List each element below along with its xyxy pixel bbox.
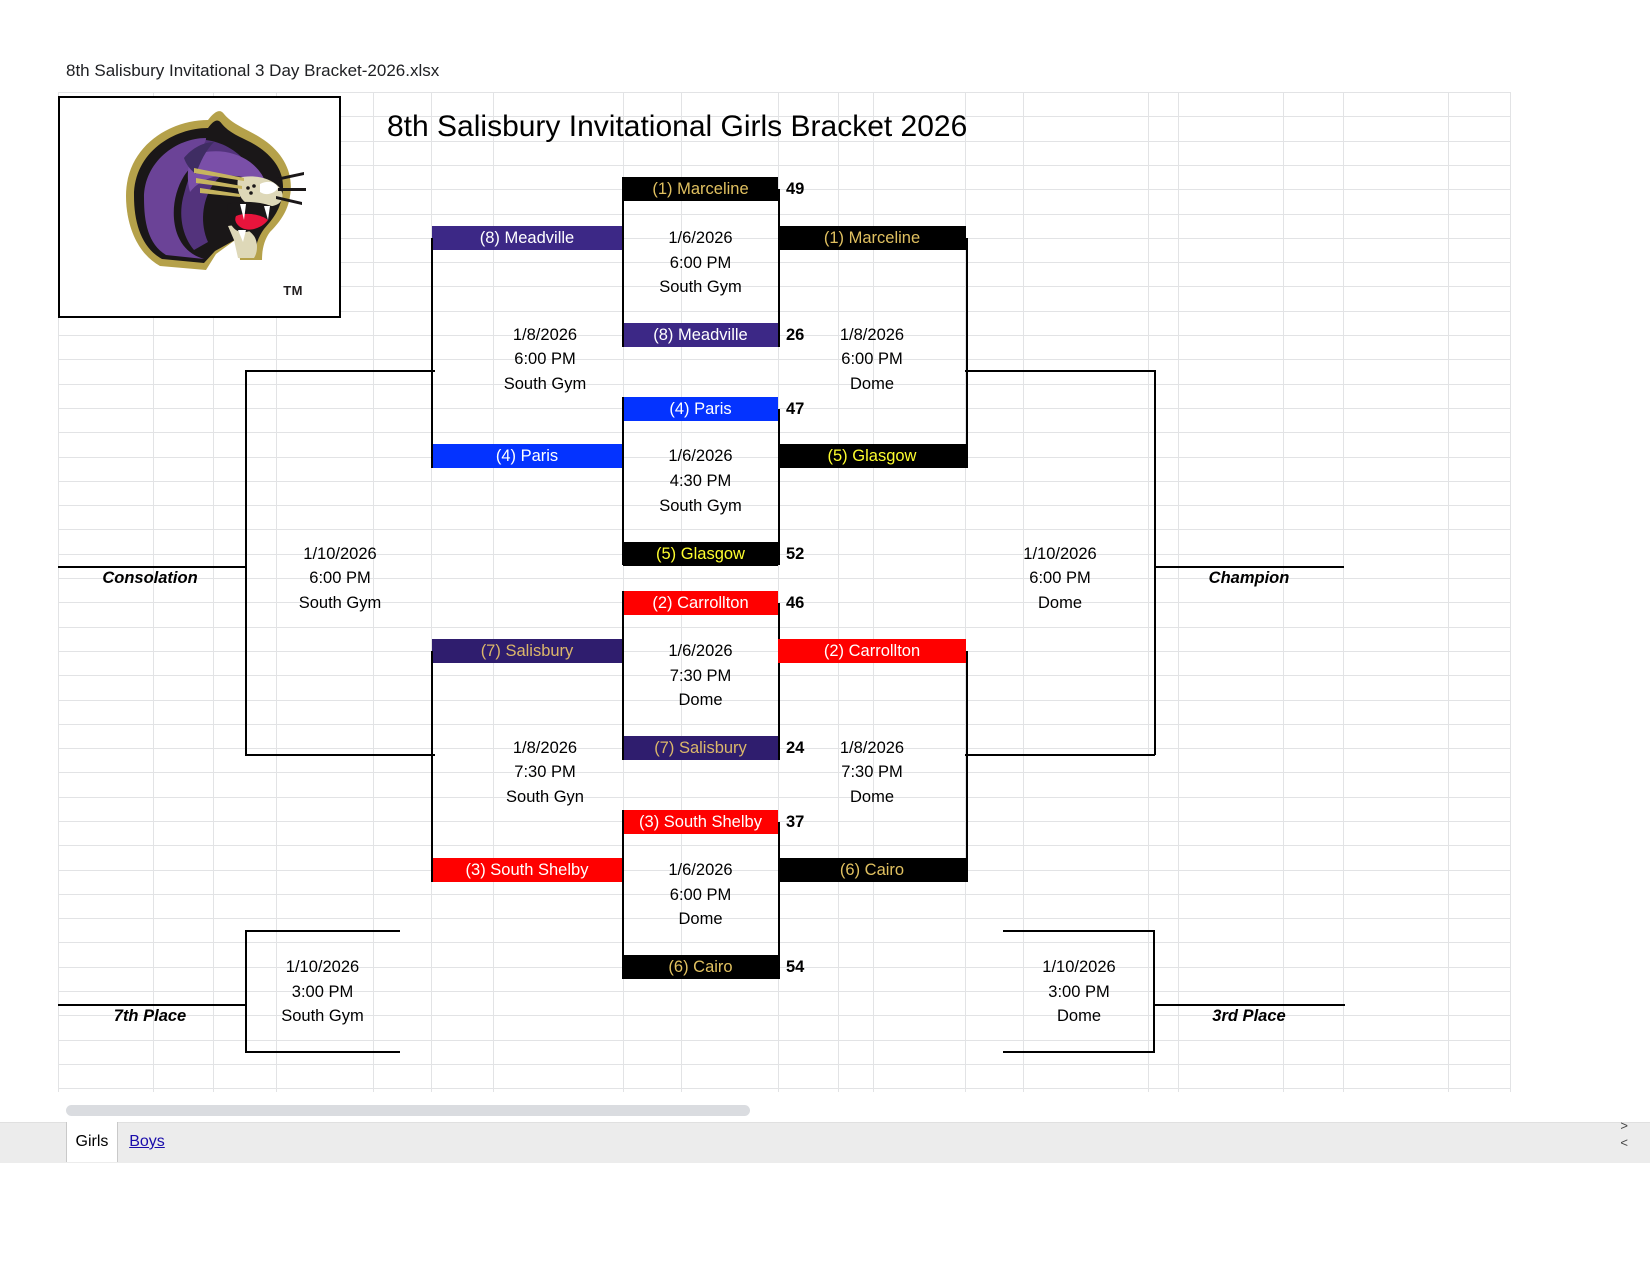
game-date-lb2: 1/8/2026: [470, 736, 620, 760]
team-chip-sf1-bottom: (5) Glasgow: [778, 444, 966, 468]
bracket-line-seventh-top: [245, 930, 400, 932]
bracket-line-r1g3-left: [622, 591, 624, 760]
bracket-line-sf2-right: [966, 651, 968, 882]
grid-row-line: [58, 700, 1510, 701]
document-filename: 8th Salisbury Invitational 3 Day Bracket…: [66, 61, 439, 81]
team-name: (6) Cairo: [668, 958, 732, 977]
bracket-line-seventh-bottom: [245, 1051, 400, 1053]
team-chip-r1g1-bottom: (8) Meadville: [623, 323, 778, 347]
grid-row-line: [58, 1064, 1510, 1065]
game-venue-r1g2: South Gym: [623, 494, 778, 518]
game-date-r1g1: 1/6/2026: [623, 226, 778, 250]
sheet-tab-bar: [0, 1122, 1650, 1163]
bracket-line-sf1-right: [966, 238, 968, 468]
team-chip-r1g3-top: (2) Carrollton: [623, 591, 778, 615]
game-venue-r1g4: Dome: [623, 907, 778, 931]
grid-row-line: [58, 845, 1510, 846]
game-date-seventh: 1/10/2026: [245, 955, 400, 979]
score-r1g3-top: 46: [786, 591, 804, 615]
team-name: (2) Carrollton: [824, 642, 920, 661]
team-name: (1) Marceline: [652, 180, 748, 199]
team-chip-lb1-top: (8) Meadville: [432, 226, 622, 250]
bracket-line-champ-bottom: [965, 754, 1155, 756]
team-chip-lb2-bottom: (3) South Shelby: [432, 858, 622, 882]
game-time-third: 3:00 PM: [990, 980, 1168, 1004]
team-name: (7) Salisbury: [481, 642, 574, 661]
grid-row-line: [58, 505, 1510, 506]
game-venue-third: Dome: [990, 1004, 1168, 1028]
seventh-place-label: 7th Place: [70, 1004, 230, 1028]
bracket-line-champ-top: [965, 370, 1155, 372]
game-date-sf1: 1/8/2026: [778, 323, 966, 347]
team-name: (3) South Shelby: [639, 813, 762, 832]
bracket-line-third-top: [1003, 930, 1155, 932]
team-name: (3) South Shelby: [466, 861, 589, 880]
team-chip-r1g2-bottom: (5) Glasgow: [623, 542, 778, 566]
champion-label: Champion: [1175, 566, 1323, 590]
panther-head-icon: [88, 104, 318, 304]
game-time-sf1: 6:00 PM: [778, 347, 966, 371]
consolation-label: Consolation: [70, 566, 230, 590]
game-date-consolation: 1/10/2026: [245, 542, 435, 566]
bracket-line-r1g1-left: [622, 177, 624, 347]
bracket-line-third-right: [1153, 930, 1155, 1052]
team-chip-r1g1-top: (1) Marceline: [623, 177, 778, 201]
game-venue-sf1: Dome: [778, 372, 966, 396]
grid-row-line: [58, 1088, 1510, 1089]
game-time-consolation: 6:00 PM: [245, 566, 435, 590]
team-name: (4) Paris: [669, 400, 731, 419]
grid-row-line: [58, 529, 1510, 530]
bracket-line-consolation-top: [245, 370, 435, 372]
sheet-tab-girls-label: Girls: [76, 1133, 109, 1151]
bracket-line-r1g4-right: [778, 822, 780, 979]
team-name: (5) Glasgow: [828, 447, 917, 466]
grid-row-line: [58, 1040, 1510, 1041]
game-time-lb1: 6:00 PM: [470, 347, 620, 371]
grid-row-line: [58, 675, 1510, 676]
game-time-r1g1: 6:00 PM: [623, 251, 778, 275]
grid-row-line: [58, 627, 1510, 628]
grid-row-line: [58, 894, 1510, 895]
grid-row-line: [58, 92, 1510, 93]
team-name: (4) Paris: [496, 447, 558, 466]
bracket-line-seventh-left: [245, 930, 247, 1052]
grid-row-line: [58, 942, 1510, 943]
game-time-r1g2: 4:30 PM: [623, 469, 778, 493]
game-time-r1g3: 7:30 PM: [623, 664, 778, 688]
game-venue-consolation: South Gym: [245, 591, 435, 615]
game-venue-r1g3: Dome: [623, 688, 778, 712]
game-venue-sf2: Dome: [778, 785, 966, 809]
score-r1g1-top: 49: [786, 177, 804, 201]
team-logo-cell: TM: [58, 96, 341, 318]
game-date-r1g3: 1/6/2026: [623, 639, 778, 663]
game-date-sf2: 1/8/2026: [778, 736, 966, 760]
game-time-seventh: 3:00 PM: [245, 980, 400, 1004]
grid-row-line: [58, 918, 1510, 919]
bracket-line-r1g4-left: [622, 810, 624, 979]
bracket-line-third-bottom: [1003, 1051, 1155, 1053]
game-venue-seventh: South Gym: [245, 1004, 400, 1028]
bracket-line-consolation-left: [245, 370, 247, 755]
game-time-championship: 6:00 PM: [965, 566, 1155, 590]
team-name: (8) Meadville: [653, 326, 747, 345]
team-chip-sf2-top: (2) Carrollton: [778, 639, 966, 663]
game-venue-r1g1: South Gym: [623, 275, 778, 299]
sheet-tab-girls[interactable]: Girls: [66, 1122, 118, 1162]
game-time-lb2: 7:30 PM: [470, 760, 620, 784]
bracket-line-consolation-bottom: [245, 754, 435, 756]
team-name: (7) Salisbury: [654, 739, 747, 758]
score-r1g2-top: 47: [786, 397, 804, 421]
grid-row-line: [58, 432, 1510, 433]
grid-column-line: [1510, 92, 1511, 1092]
team-chip-r1g2-top: (4) Paris: [623, 397, 778, 421]
team-name: (1) Marceline: [824, 229, 920, 248]
team-name: (8) Meadville: [480, 229, 574, 248]
grid-row-line: [58, 821, 1510, 822]
third-place-label: 3rd Place: [1175, 1004, 1323, 1028]
game-date-championship: 1/10/2026: [965, 542, 1155, 566]
game-venue-lb2: South Gyn: [470, 785, 620, 809]
team-chip-lb2-top: (7) Salisbury: [432, 639, 622, 663]
team-name: (5) Glasgow: [656, 545, 745, 564]
horizontal-scrollbar-thumb[interactable]: [66, 1105, 750, 1116]
team-chip-r1g3-bottom: (7) Salisbury: [623, 736, 778, 760]
sheet-tab-boys-label: Boys: [129, 1133, 165, 1151]
game-date-third: 1/10/2026: [990, 955, 1168, 979]
score-r1g4-top: 37: [786, 810, 804, 834]
game-date-lb1: 1/8/2026: [470, 323, 620, 347]
sheet-tab-boys[interactable]: Boys: [119, 1122, 175, 1162]
bracket-line-lb1-left: [431, 238, 433, 468]
bracket-line-lb2-left: [431, 651, 433, 882]
grid-row-line: [58, 724, 1510, 725]
spreadsheet-page: 8th Salisbury Invitational 3 Day Bracket…: [0, 0, 1650, 1275]
grid-row-line: [58, 481, 1510, 482]
team-chip-lb1-bottom: (4) Paris: [432, 444, 622, 468]
team-chip-r1g4-bottom: (6) Cairo: [623, 955, 778, 979]
game-date-r1g2: 1/6/2026: [623, 444, 778, 468]
team-chip-r1g4-top: (3) South Shelby: [623, 810, 778, 834]
trademark-symbol: TM: [283, 283, 303, 298]
team-chip-sf2-bottom: (6) Cairo: [778, 858, 966, 882]
scroll-left-icon[interactable]: <: [1620, 1135, 1628, 1150]
bracket-line-champ-right: [1154, 370, 1156, 755]
bracket-line-r1g2-left: [622, 397, 624, 565]
grid-row-line: [58, 408, 1510, 409]
game-date-r1g4: 1/6/2026: [623, 858, 778, 882]
game-time-sf2: 7:30 PM: [778, 760, 966, 784]
scroll-right-icon[interactable]: >: [1620, 1118, 1628, 1133]
bracket-title: 8th Salisbury Invitational Girls Bracket…: [387, 110, 967, 144]
game-time-r1g4: 6:00 PM: [623, 883, 778, 907]
team-chip-sf1-top: (1) Marceline: [778, 226, 966, 250]
score-r1g2-bottom: 52: [786, 542, 804, 566]
team-name: (6) Cairo: [840, 861, 904, 880]
game-venue-lb1: South Gym: [470, 372, 620, 396]
bracket-line-r1g2-right: [778, 409, 780, 565]
score-r1g4-bottom: 54: [786, 955, 804, 979]
team-name: (2) Carrollton: [652, 594, 748, 613]
game-venue-championship: Dome: [965, 591, 1155, 615]
